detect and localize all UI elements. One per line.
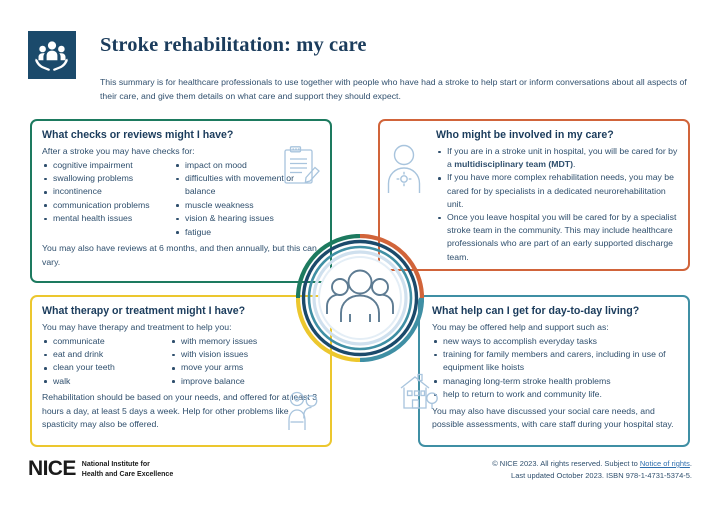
panel-help-tail: You may also have discussed your social … (432, 405, 680, 432)
list-item: help to return to work and community lif… (432, 388, 680, 401)
carer-and-patient-icon (284, 388, 324, 437)
list-item: muscle weakness (174, 199, 296, 212)
list-item: incontinence (42, 185, 174, 198)
page-header: Stroke rehabilitation: my care This summ… (28, 28, 692, 112)
panel-help-heading: What help can I get for day-to-day livin… (432, 305, 680, 317)
panel-checks-heading: What checks or reviews might I have? (42, 129, 320, 141)
centre-emblem (296, 234, 424, 362)
list-item: clean your teeth (42, 361, 170, 374)
nice-logo-subtitle-line2: Health and Care Excellence (82, 469, 173, 479)
nice-logo-subtitle: National Institute for Health and Care E… (82, 459, 173, 479)
list-item: vision & hearing issues (174, 212, 296, 225)
list-item: If you are in a stroke unit in hospital,… (436, 145, 680, 171)
infographic-page: Stroke rehabilitation: my care This summ… (0, 0, 720, 509)
panel-help-lead: You may be offered help and support such… (432, 321, 680, 335)
list-item: communication problems (42, 199, 174, 212)
list-item: training for family members and carers, … (432, 348, 680, 375)
list-item: move your arms (170, 361, 296, 374)
page-footer: NICE National Institute for Health and C… (28, 455, 692, 489)
list-item: impact on mood (174, 159, 296, 172)
panel-checks-list-left: cognitive impairment swallowing problems… (42, 159, 174, 239)
nice-hands-family-icon (28, 31, 76, 79)
list-item: difficulties with movement or balance (174, 172, 296, 199)
list-item: new ways to accomplish everyday tasks (432, 335, 680, 348)
panel-therapy-lead: You may have therapy and treatment to he… (42, 321, 320, 335)
list-item: If you have more complex rehabilitation … (436, 171, 680, 211)
nice-logo-wordmark: NICE (28, 457, 76, 481)
list-item: communicate (42, 335, 170, 348)
list-item-text-b: . (573, 159, 575, 169)
panel-therapy-list-right: with memory issues with vision issues mo… (170, 335, 296, 389)
list-item: with memory issues (170, 335, 296, 348)
panel-who-body: Who might be involved in my care? If you… (436, 129, 680, 264)
nice-logo-subtitle-line1: National Institute for (82, 459, 173, 469)
copyright-suffix: . (690, 459, 692, 468)
panel-who-heading: Who might be involved in my care? (436, 129, 680, 141)
panel-checks-lead: After a stroke you may have checks for: (42, 145, 320, 159)
panel-therapy-list-left: communicate eat and drink clean your tee… (42, 335, 170, 389)
panel-therapy-treatment: What therapy or treatment might I have? … (30, 295, 332, 447)
panel-therapy-columns: communicate eat and drink clean your tee… (42, 335, 320, 389)
bold-mdt-phrase: multidisciplinary team (MDT) (454, 159, 573, 169)
list-item: walk (42, 375, 170, 388)
copyright-line-1: © NICE 2023. All rights reserved. Subjec… (492, 458, 692, 470)
person-icon (384, 143, 424, 200)
panel-help-list: new ways to accomplish everyday tasks tr… (432, 335, 680, 402)
panel-checks-reviews: What checks or reviews might I have? Aft… (30, 119, 332, 283)
clipboard-pencil-icon (282, 145, 322, 194)
panel-checks-list-right: impact on mood difficulties with movemen… (174, 159, 296, 239)
list-item: swallowing problems (42, 172, 174, 185)
panel-who-involved: Who might be involved in my care? If you… (378, 119, 690, 271)
panel-checks-tail: You may also have reviews at 6 months, a… (42, 242, 320, 269)
copyright-line-2: Last updated October 2023. ISBN 978-1-47… (492, 470, 692, 482)
panel-checks-columns: cognitive impairment swallowing problems… (42, 159, 320, 239)
house-and-tree-icon (398, 370, 444, 417)
list-item: improve balance (170, 375, 296, 388)
list-item: managing long-term stroke health problem… (432, 375, 680, 388)
page-intro: This summary is for healthcare professio… (100, 75, 692, 104)
list-item: Once you leave hospital you will be care… (436, 211, 680, 264)
list-item: with vision issues (170, 348, 296, 361)
copyright-prefix: © NICE 2023. All rights reserved. Subjec… (492, 459, 640, 468)
panel-day-to-day-living: What help can I get for day-to-day livin… (418, 295, 690, 447)
panel-therapy-tail: Rehabilitation should be based on your n… (42, 391, 320, 432)
list-item: eat and drink (42, 348, 170, 361)
notice-of-rights-link[interactable]: Notice of rights (640, 459, 690, 468)
list-item: cognitive impairment (42, 159, 174, 172)
panel-therapy-heading: What therapy or treatment might I have? (42, 305, 320, 317)
copyright-block: © NICE 2023. All rights reserved. Subjec… (492, 458, 692, 481)
panel-who-list: If you are in a stroke unit in hospital,… (436, 145, 680, 264)
nice-logo: NICE National Institute for Health and C… (28, 457, 173, 481)
page-title: Stroke rehabilitation: my care (100, 34, 367, 57)
list-item: fatigue (174, 226, 296, 239)
list-item: mental health issues (42, 212, 174, 225)
